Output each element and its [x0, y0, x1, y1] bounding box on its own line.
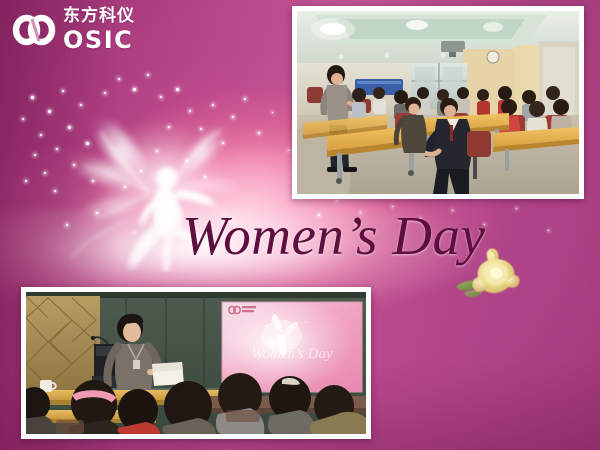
- conference-room-illustration: [297, 11, 579, 194]
- logo-chinese-name: 东方科仪: [63, 8, 135, 25]
- photo-lecture-hall-speaker[interactable]: Women’s Day: [21, 287, 371, 439]
- osic-double-circle-mark-icon: [12, 13, 56, 47]
- yellow-rose-icon: [450, 243, 522, 307]
- osic-logo: 东方科仪 OSIC: [12, 8, 135, 52]
- logo-wordmark: 东方科仪 OSIC: [63, 8, 135, 52]
- svg-text:Women’s Day: Women’s Day: [251, 346, 333, 362]
- logo-english-name: OSIC: [63, 28, 135, 52]
- lecture-hall-illustration: Women’s Day: [26, 292, 366, 434]
- photo-conference-room-presentation[interactable]: [292, 6, 584, 199]
- photo-image: Women’s Day: [26, 292, 366, 434]
- presentation-slide: Women’s Day: [0, 0, 600, 450]
- photo-image: [297, 11, 579, 194]
